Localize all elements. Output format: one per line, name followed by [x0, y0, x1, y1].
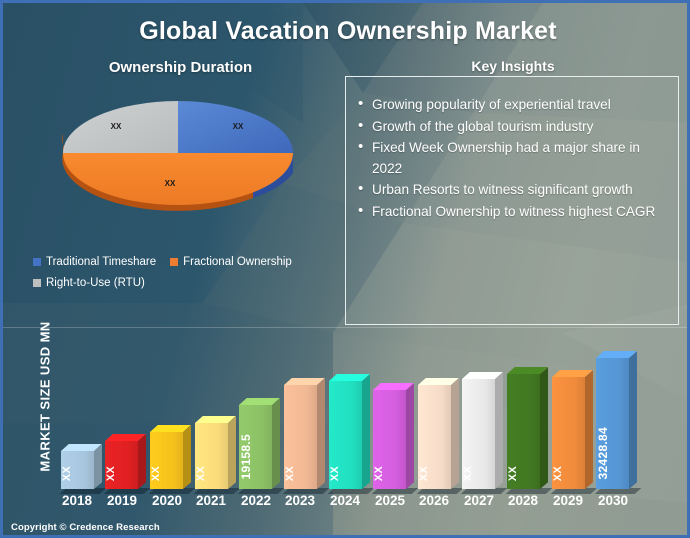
- bar-value-label-2026: XX: [418, 466, 451, 481]
- x-tick-2028: 2028: [500, 493, 546, 508]
- y-axis-label: MARKET SIZE USD MN: [38, 317, 53, 477]
- x-tick-2022: 2022: [233, 493, 279, 508]
- pie-section-title: Ownership Duration: [58, 59, 303, 76]
- bar-chart-plot-area: XXXXXXXX19158.5XXXXXXXXXXXXXX32428.84: [55, 329, 635, 489]
- bar-side-face: [317, 378, 325, 489]
- bar-side-face: [495, 372, 503, 489]
- list-item: Fixed Week Ownership had a major share i…: [372, 138, 666, 179]
- copyright-text: Copyright © Credence Research: [11, 522, 160, 533]
- bar-2026[interactable]: XX: [418, 385, 451, 489]
- bar-2025[interactable]: XX: [373, 390, 406, 489]
- x-tick-2030: 2030: [590, 493, 636, 508]
- key-insights-list: Growing popularity of experiential trave…: [346, 77, 678, 222]
- x-tick-2023: 2023: [277, 493, 323, 508]
- bar-value-label-2024: XX: [329, 466, 362, 481]
- bar-side-face: [183, 425, 191, 489]
- section-divider: [3, 327, 690, 328]
- x-axis-tick-labels: 2018201920202021202220232024202520262027…: [55, 493, 635, 513]
- bar-value-label-2019: XX: [105, 466, 138, 481]
- bar-value-label-2020: XX: [150, 466, 183, 481]
- legend-item-right-to-use[interactable]: Right-to-Use (RTU): [33, 277, 145, 289]
- bar-value-label-2027: XX: [462, 466, 495, 481]
- x-tick-2026: 2026: [411, 493, 457, 508]
- bar-2030[interactable]: 32428.84: [596, 358, 629, 489]
- bar-side-face: [94, 444, 102, 489]
- bar-side-face: [451, 378, 459, 489]
- x-tick-2025: 2025: [367, 493, 413, 508]
- bar-side-face: [362, 374, 370, 489]
- legend-swatch-icon-fractional-ownership: [170, 258, 178, 266]
- x-tick-2029: 2029: [545, 493, 591, 508]
- key-insights-panel: Growing popularity of experiential trave…: [345, 76, 679, 325]
- pie-label-traditional-timeshare: XX: [233, 122, 244, 131]
- bar-side-face: [138, 434, 146, 489]
- page-title: Global Vacation Ownership Market: [3, 17, 690, 46]
- bar-2018[interactable]: XX: [61, 451, 94, 489]
- x-tick-2019: 2019: [99, 493, 145, 508]
- market-size-bar-chart: MARKET SIZE USD MN XXXXXXXX19158.5XXXXXX…: [3, 329, 690, 538]
- bar-side-face: [228, 416, 236, 489]
- legend-item-traditional-timeshare[interactable]: Traditional Timeshare: [33, 256, 156, 268]
- insights-section-title: Key Insights: [345, 58, 681, 74]
- x-tick-2021: 2021: [188, 493, 234, 508]
- bar-side-face: [585, 370, 593, 489]
- legend-swatch-icon-traditional-timeshare: [33, 258, 41, 266]
- legend-item-fractional-ownership[interactable]: Fractional Ownership: [170, 256, 292, 268]
- pie-legend: Traditional Timeshare Fractional Ownersh…: [33, 256, 333, 298]
- bar-2027[interactable]: XX: [462, 379, 495, 489]
- pie-label-right-to-use: XX: [111, 122, 122, 131]
- bar-2024[interactable]: XX: [329, 381, 362, 489]
- legend-label-right-to-use: Right-to-Use (RTU): [46, 277, 145, 289]
- bar-2020[interactable]: XX: [150, 432, 183, 489]
- bar-value-label-2028: XX: [507, 466, 540, 481]
- bar-front-face: [105, 441, 138, 489]
- bar-value-label-2025: XX: [373, 466, 406, 481]
- infographic-page: Global Vacation Ownership Market Ownersh…: [0, 0, 690, 538]
- list-item: Urban Resorts to witness significant gro…: [372, 180, 666, 201]
- bar-2021[interactable]: XX: [195, 423, 228, 489]
- x-tick-2018: 2018: [54, 493, 100, 508]
- legend-swatch-icon-right-to-use: [33, 279, 41, 287]
- list-item: Growth of the global tourism industry: [372, 117, 666, 138]
- x-tick-2020: 2020: [144, 493, 190, 508]
- x-tick-2027: 2027: [456, 493, 502, 508]
- bar-2019[interactable]: XX: [105, 441, 138, 489]
- bar-2022[interactable]: 19158.5: [239, 405, 272, 489]
- bar-value-label-2018: XX: [61, 466, 94, 481]
- list-item: Growing popularity of experiential trave…: [372, 95, 666, 116]
- bar-value-label-2023: XX: [284, 466, 317, 481]
- pie-label-fractional-ownership: XX: [165, 179, 176, 188]
- bar-2028[interactable]: XX: [507, 374, 540, 489]
- legend-label-fractional-ownership: Fractional Ownership: [183, 256, 292, 268]
- bar-side-face: [629, 351, 637, 489]
- ownership-duration-pie-chart: XX XX XX: [53, 91, 303, 236]
- bar-value-label-2021: XX: [195, 466, 228, 481]
- bar-2023[interactable]: XX: [284, 385, 317, 489]
- list-item: Fractional Ownership to witness highest …: [372, 202, 666, 223]
- bar-2029[interactable]: XX: [552, 377, 585, 489]
- bar-side-face: [272, 398, 280, 489]
- x-tick-2024: 2024: [322, 493, 368, 508]
- bar-value-label-2022: 19158.5: [239, 434, 272, 479]
- bar-side-face: [406, 383, 414, 489]
- bar-value-label-2030: 32428.84: [596, 427, 629, 479]
- bar-value-label-2029: XX: [552, 466, 585, 481]
- pie-slice-fractional-ownership: [63, 153, 293, 205]
- bar-side-face: [540, 367, 548, 489]
- legend-label-traditional-timeshare: Traditional Timeshare: [46, 256, 156, 268]
